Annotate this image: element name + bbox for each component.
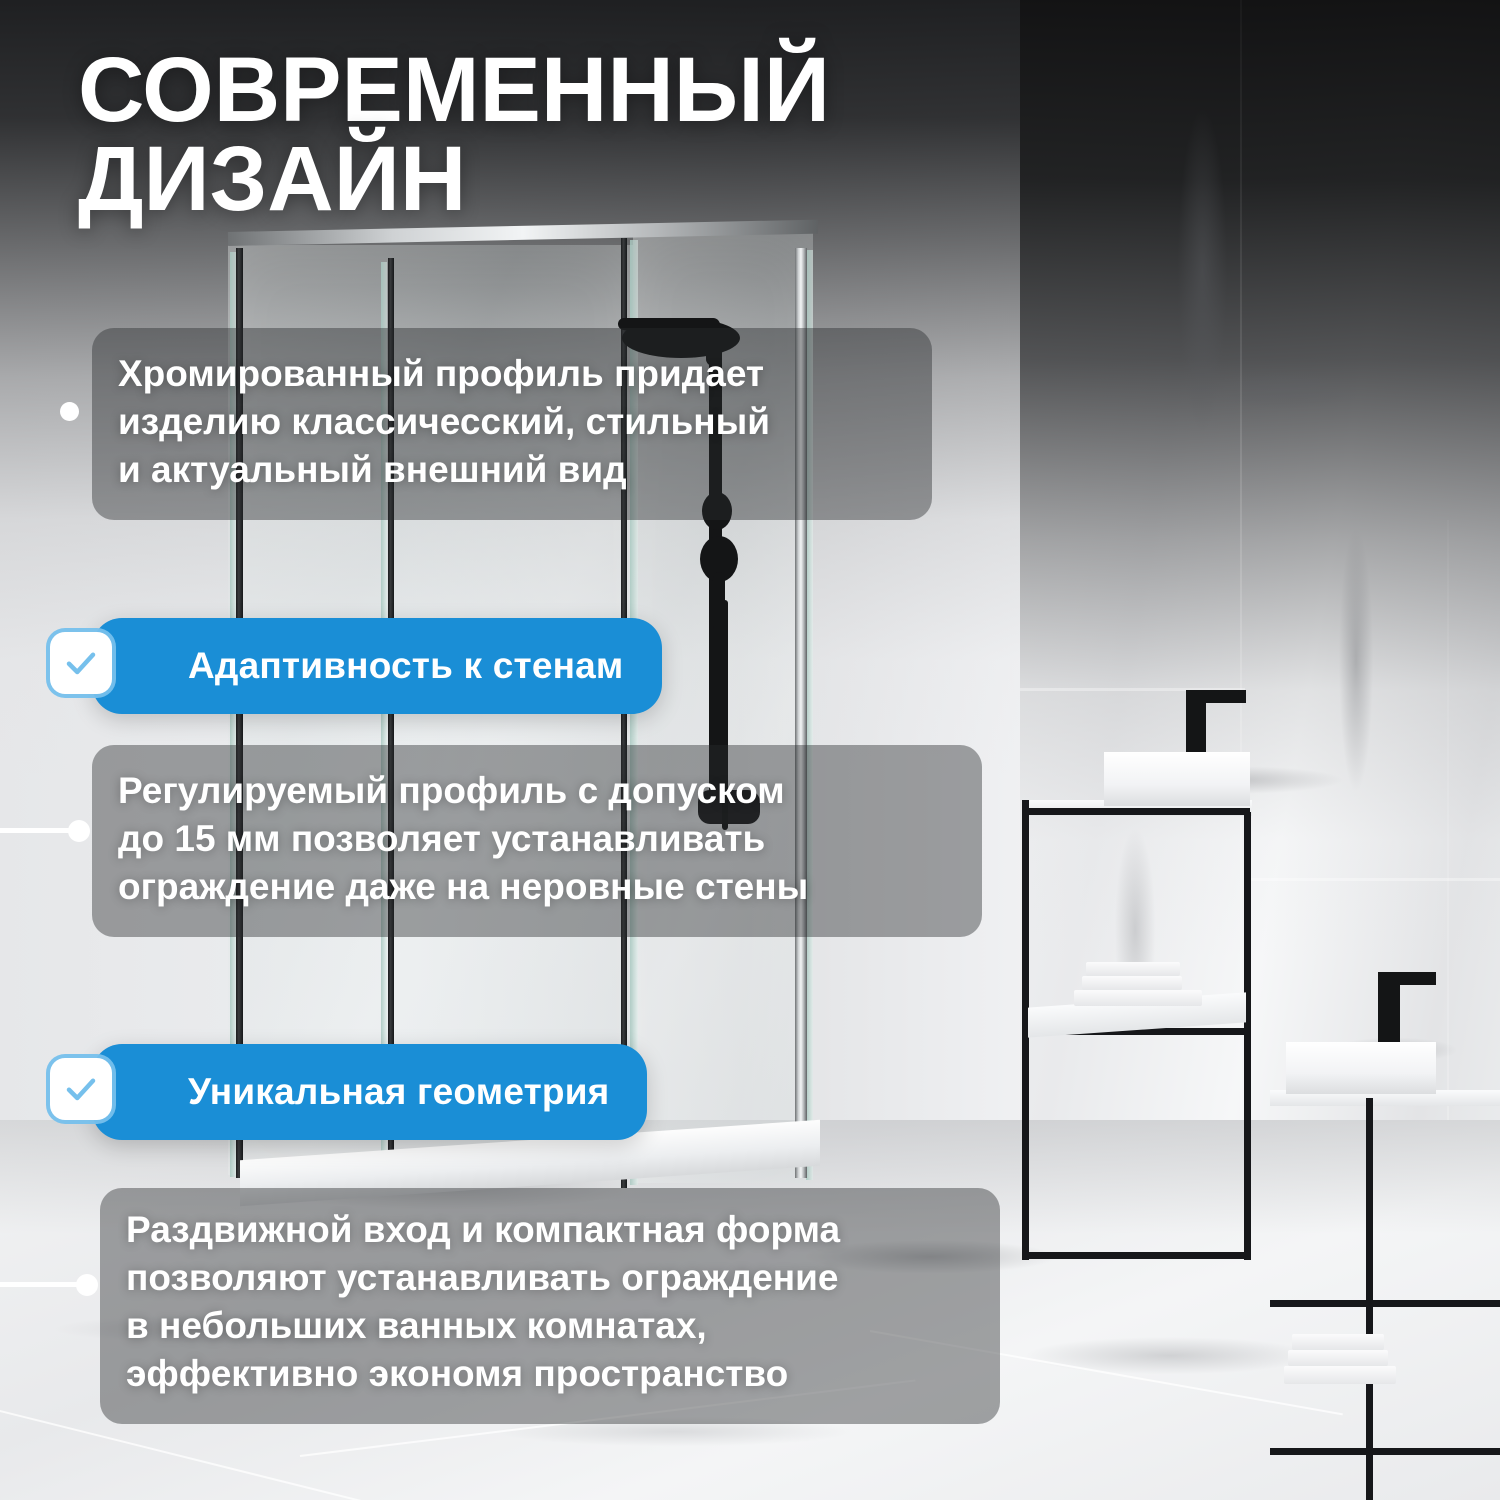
vanity-frame-rail: [1022, 808, 1250, 815]
vanity-frame-post: [1244, 812, 1251, 1260]
checkbox-check-icon[interactable]: [50, 632, 112, 694]
badge-wall-adaptivity[interactable]: Адаптивность к стенам: [92, 618, 662, 714]
leader-line-2: [0, 828, 74, 833]
leader-dot-2: [68, 820, 90, 842]
folded-towel: [1082, 976, 1182, 990]
badge-unique-geometry[interactable]: Уникальная геометрия: [92, 1044, 647, 1140]
folded-towel: [1284, 1366, 1396, 1384]
vanity-frame-rail: [1270, 1448, 1500, 1455]
checkbox-check-icon[interactable]: [50, 1058, 112, 1120]
infographic-canvas: СОВРЕМЕННЫЙ ДИЗАЙН Хромированный профиль…: [0, 0, 1500, 1500]
black-faucet-spout: [1186, 690, 1246, 703]
white-sink: [1286, 1042, 1436, 1094]
folded-towel: [1288, 1350, 1388, 1366]
marble-seam: [1247, 878, 1500, 881]
folded-towel: [1292, 1334, 1384, 1350]
bullet-dot-1: [60, 402, 79, 421]
black-faucet-spout: [1378, 972, 1436, 985]
feature-text-3: Раздвижной вход и компактная форма позво…: [100, 1188, 1000, 1424]
feature-text-2: Регулируемый профиль с допуском до 15 мм…: [92, 745, 982, 937]
badge-label-1: Адаптивность к стенам: [188, 645, 624, 687]
folded-towel: [1086, 962, 1180, 976]
white-sink: [1104, 752, 1250, 806]
folded-towel: [1074, 990, 1202, 1006]
leader-dot-3: [76, 1274, 98, 1296]
vanity-frame-rail: [1270, 1300, 1500, 1307]
vanity-frame-post: [1366, 1098, 1373, 1500]
leader-line-3: [0, 1282, 82, 1287]
feature-text-1: Хромированный профиль придает изделию кл…: [92, 328, 932, 520]
vanity-frame-rail: [1022, 1252, 1250, 1259]
badge-label-2: Уникальная геометрия: [188, 1071, 609, 1113]
page-title: СОВРЕМЕННЫЙ ДИЗАЙН: [78, 46, 978, 224]
